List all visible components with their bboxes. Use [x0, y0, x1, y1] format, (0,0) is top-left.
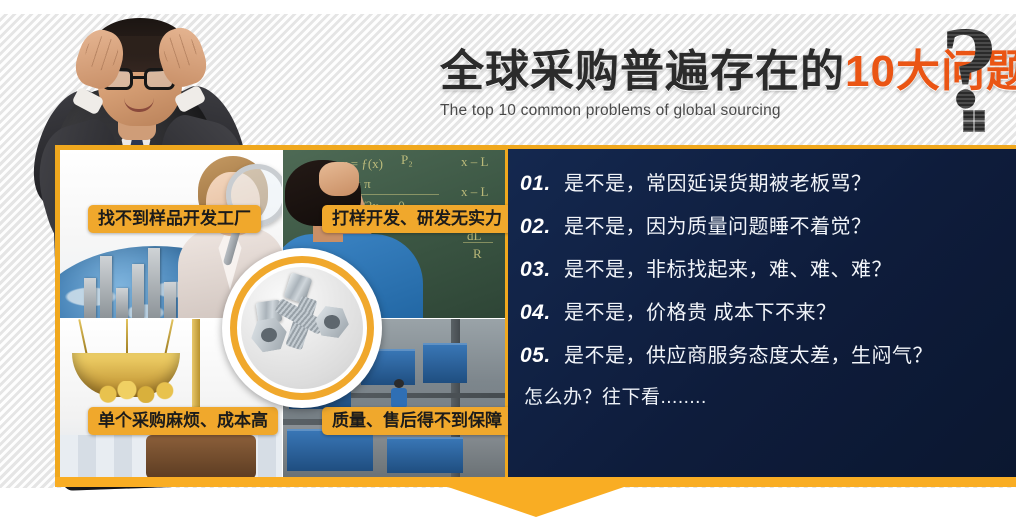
hex-nut	[248, 316, 289, 354]
caption-cost: 单个采购麻烦、成本高	[88, 407, 278, 435]
factory-machine	[287, 429, 373, 471]
title-main-text: 全球采购普遍存在的	[440, 47, 845, 96]
gold-coins	[96, 381, 182, 403]
problem-text: 是不是，价格贵 成本下不来？	[564, 296, 837, 325]
problem-text: 是不是，常因延误货期被老板骂？	[564, 167, 872, 196]
caption-rnd: 打样开发、研发无实力	[322, 205, 512, 233]
problem-item: 04. 是不是，价格贵 成本下不来？	[520, 296, 1006, 325]
problem-text: 是不是，非标找起来，难、难、难？	[564, 253, 892, 282]
badge-photo	[241, 267, 363, 389]
hex-nut	[313, 305, 351, 339]
factory-machine	[423, 343, 467, 383]
problem-item: 01. 是不是，常因延误货期被老板骂？	[520, 167, 1006, 196]
bolts-badge	[222, 248, 382, 408]
question-mark-dot-icon	[963, 110, 985, 132]
page-subtitle: The top 10 common problems of global sou…	[440, 102, 960, 120]
bottom-orange-bar	[55, 477, 1016, 487]
caption-quality: 质量、售后得不到保障	[322, 407, 512, 435]
problem-number: 03.	[520, 258, 564, 282]
wooden-base	[146, 435, 256, 477]
problems-list: 01. 是不是，常因延误货期被老板骂？ 02. 是不是，因为质量问题睡不着觉？ …	[520, 167, 1006, 409]
factory-machine	[387, 437, 463, 473]
problem-item: 03. 是不是，非标找起来，难、难、难？	[520, 253, 1006, 282]
problem-number: 04.	[520, 301, 564, 325]
page-title: 全球采购普遍存在的10大问题	[440, 46, 960, 98]
problems-footer-text: 怎么办？往下看........	[520, 382, 1006, 409]
problem-text: 是不是，供应商服务态度太差，生闷气？	[564, 339, 933, 368]
headline-block: 全球采购普遍存在的10大问题 The top 10 common problem…	[440, 46, 960, 120]
promo-banner: 全球采购普遍存在的10大问题 The top 10 common problem…	[0, 0, 1016, 531]
problem-number: 02.	[520, 215, 564, 239]
problem-text: 是不是，因为质量问题睡不着觉？	[564, 210, 872, 239]
question-mark-glyph: ?	[940, 18, 1012, 118]
problem-number: 05.	[520, 344, 564, 368]
problems-panel: 01. 是不是，常因延误货期被老板骂？ 02. 是不是，因为质量问题睡不着觉？ …	[508, 145, 1016, 482]
caption-sample-factory: 找不到样品开发工厂	[88, 205, 261, 233]
problem-item: 05. 是不是，供应商服务态度太差，生闷气？	[520, 339, 1006, 368]
problem-item: 02. 是不是，因为质量问题睡不着觉？	[520, 210, 1006, 239]
problem-number: 01.	[520, 172, 564, 196]
